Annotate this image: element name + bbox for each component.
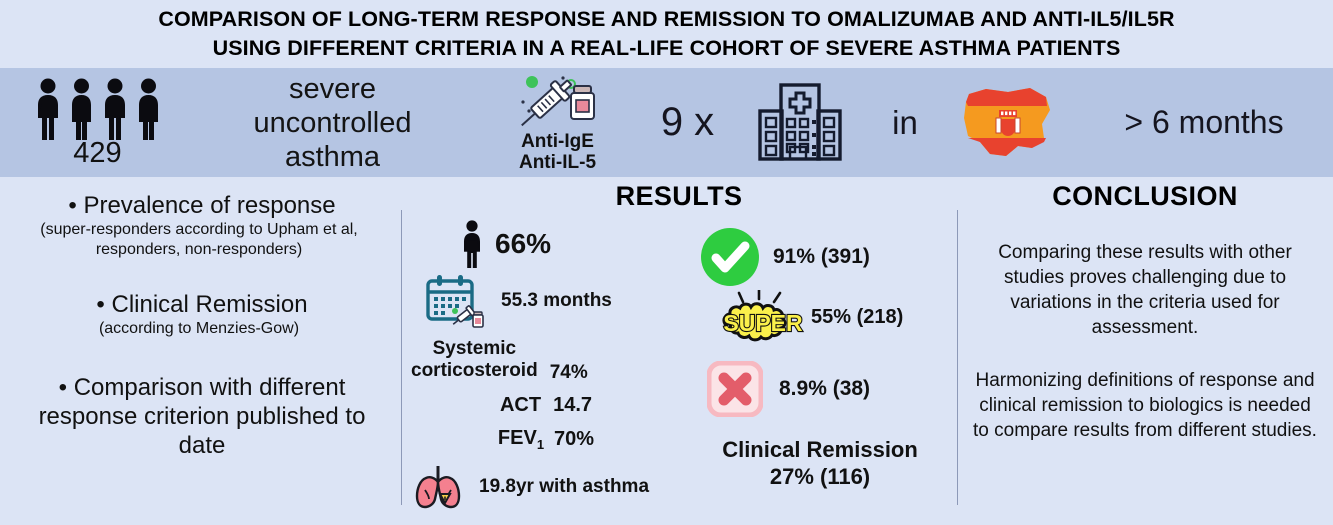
- spain-map-flag-icon: [956, 80, 1060, 166]
- outcome-row-responders: 91% (391): [689, 220, 957, 294]
- drug-label-line-2: Anti-IL-5: [519, 152, 596, 173]
- objectives-column: • Prevalence of response (super-responde…: [0, 177, 398, 525]
- green-check-icon: [699, 226, 761, 288]
- objective-item-2: • Clinical Remission (according to Menzi…: [14, 290, 384, 339]
- outcomes-list: 91% (391) SUPER 55% (218): [689, 220, 957, 490]
- outcome-value-non-responders: 8.9% (38): [779, 377, 870, 401]
- objective-1-sub: (super-responders according to Upham et …: [14, 220, 384, 260]
- centers-count: 9 x: [661, 100, 714, 145]
- infographic-poster: COMPARISON OF LONG-TERM RESPONSE AND REM…: [0, 0, 1333, 525]
- condition-line-1: severe: [254, 72, 412, 106]
- title-line-1: COMPARISON OF LONG-TERM RESPONSE AND REM…: [158, 5, 1174, 34]
- stat-row-corticosteroid: Systemic corticosteroid 74%: [401, 332, 691, 388]
- stat-value-female: 66%: [495, 228, 551, 260]
- outcome-row-super-responders: SUPER 55% (218): [689, 288, 957, 346]
- stat-row-treatment-duration: 55.3 months: [401, 270, 691, 332]
- stat-label-corticosteroid: Systemic corticosteroid: [411, 338, 538, 382]
- clinical-remission-block: Clinical Remission 27% (116): [689, 436, 957, 490]
- bullet-icon: •: [68, 192, 76, 219]
- condition-block: severe uncontrolled asthma: [195, 68, 470, 177]
- stat-value-fev1: 70%: [554, 428, 594, 451]
- outcome-row-non-responders: 8.9% (38): [689, 354, 957, 424]
- conclusion-heading: CONCLUSION: [973, 181, 1317, 212]
- conclusion-paragraph-2: Harmonizing definitions of response and …: [973, 368, 1317, 443]
- results-heading: RESULTS: [401, 177, 957, 212]
- calendar-injection-icon: [425, 273, 487, 329]
- stat-label-act: ACT: [500, 394, 541, 417]
- duration-block: > 6 months: [1075, 68, 1333, 177]
- condition-line-3: asthma: [254, 140, 412, 174]
- objective-2-sub: (according to Menzies-Gow): [14, 319, 384, 339]
- bullet-icon: •: [96, 291, 104, 318]
- patients-count: 429: [73, 138, 121, 168]
- objective-1-main: • Prevalence of response: [14, 191, 384, 220]
- condition-line-2: uncontrolled: [254, 106, 412, 140]
- outcome-value-responders: 91% (391): [773, 245, 870, 269]
- people-group-icon: [31, 78, 164, 140]
- drug-label-line-1: Anti-IgE: [519, 131, 596, 152]
- clinical-remission-value: 27% (116): [689, 463, 951, 490]
- duration-text: > 6 months: [1124, 104, 1283, 141]
- svg-text:SUPER: SUPER: [723, 310, 803, 336]
- cortico-label-line-1: Systemic: [411, 338, 538, 360]
- drug-block: Anti-IgE Anti-IL-5: [470, 68, 645, 177]
- cortico-label-line-2: corticosteroid: [411, 360, 538, 382]
- stat-row-act: ACT 14.7: [401, 388, 691, 422]
- in-word: in: [892, 104, 918, 142]
- stat-value-asthma-years: 19.8yr with asthma: [479, 476, 649, 498]
- conclusion-paragraph-1: Comparing these results with other studi…: [973, 240, 1317, 340]
- objective-3-title: Comparison with different response crite…: [39, 374, 366, 459]
- red-x-icon: [707, 361, 763, 417]
- cohort-stats-list: 66%: [401, 218, 691, 518]
- clinical-remission-title: Clinical Remission: [689, 436, 951, 463]
- objective-item-1: • Prevalence of response (super-responde…: [14, 191, 384, 260]
- objective-item-3: • Comparison with different response cri…: [14, 373, 384, 460]
- objective-3-main: • Comparison with different response cri…: [14, 373, 384, 460]
- objective-2-main: • Clinical Remission: [14, 290, 384, 319]
- bullet-icon: •: [59, 374, 67, 401]
- patients-block: 429: [0, 68, 195, 177]
- stat-row-asthma-years: 19.8yr with asthma: [401, 456, 691, 518]
- results-column: RESULTS 66%: [401, 177, 957, 525]
- drug-label: Anti-IgE Anti-IL-5: [519, 131, 596, 173]
- stat-label-fev1: FEV1: [498, 427, 544, 452]
- stat-value-act: 14.7: [553, 394, 592, 417]
- stat-value-corticosteroid: 74%: [550, 362, 588, 388]
- country-block: [940, 68, 1075, 177]
- centers-block: 9 x: [645, 68, 730, 177]
- outcome-value-super-responders: 55% (218): [811, 306, 903, 329]
- condition-text: severe uncontrolled asthma: [254, 72, 412, 174]
- hospital-block: [730, 68, 870, 177]
- location-preposition: in: [870, 68, 940, 177]
- lungs-icon: [413, 462, 467, 512]
- methods-band: 429 severe uncontrolled asthma: [0, 68, 1333, 177]
- objective-1-title: Prevalence of response: [83, 192, 335, 219]
- stat-row-female: 66%: [401, 218, 691, 270]
- hospital-icon: [752, 79, 848, 167]
- super-badge-icon: SUPER: [717, 290, 809, 344]
- title-line-2: USING DIFFERENT CRITERIA IN A REAL-LIFE …: [213, 34, 1121, 63]
- syringe-vial-icon: [510, 72, 606, 130]
- content-area: • Prevalence of response (super-responde…: [0, 177, 1333, 525]
- conclusion-column: CONCLUSION Comparing these results with …: [957, 177, 1333, 525]
- poster-title: COMPARISON OF LONG-TERM RESPONSE AND REM…: [0, 0, 1333, 68]
- stat-row-fev1: FEV1 70%: [401, 422, 691, 456]
- female-figure-icon: [459, 220, 485, 268]
- stat-value-duration: 55.3 months: [501, 290, 612, 312]
- objective-2-title: Clinical Remission: [112, 291, 308, 318]
